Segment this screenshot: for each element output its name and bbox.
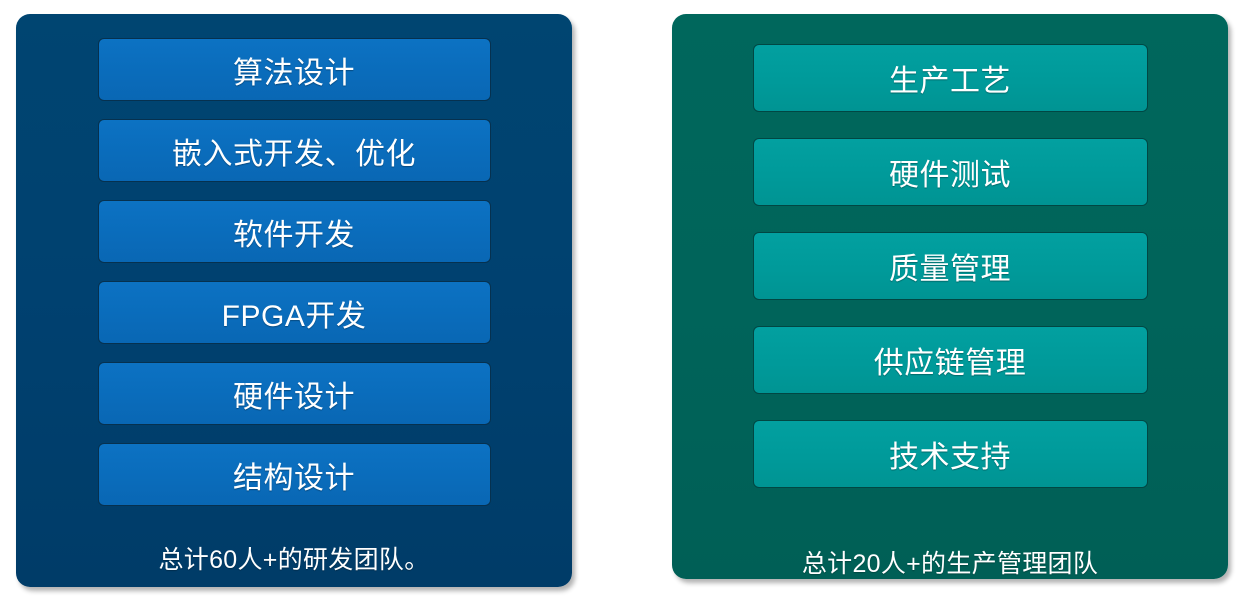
production-card-list: 生产工艺 硬件测试 质量管理 供应链管理 技术支持 — [672, 44, 1228, 488]
card-label: 技术支持 — [889, 432, 1011, 476]
card-production-5[interactable]: 技术支持 — [753, 420, 1148, 488]
card-rnd-5[interactable]: 硬件设计 — [98, 362, 491, 425]
card-production-2[interactable]: 硬件测试 — [753, 138, 1148, 206]
panel-production-management: 生产工艺 硬件测试 质量管理 供应链管理 技术支持 总计20人+的生产管理团队 — [672, 14, 1228, 579]
card-label: 供应链管理 — [874, 338, 1027, 382]
card-label: 硬件设计 — [233, 372, 355, 416]
card-label: 软件开发 — [233, 210, 355, 254]
card-label: 嵌入式开发、优化 — [172, 129, 416, 173]
card-label: 结构设计 — [233, 453, 355, 497]
card-rnd-1[interactable]: 算法设计 — [98, 38, 491, 101]
card-production-1[interactable]: 生产工艺 — [753, 44, 1148, 112]
card-production-4[interactable]: 供应链管理 — [753, 326, 1148, 394]
card-label: 硬件测试 — [889, 150, 1011, 194]
card-production-3[interactable]: 质量管理 — [753, 232, 1148, 300]
card-rnd-4[interactable]: FPGA开发 — [98, 281, 491, 344]
card-rnd-2[interactable]: 嵌入式开发、优化 — [98, 119, 491, 182]
card-label: 算法设计 — [233, 48, 355, 92]
card-rnd-6[interactable]: 结构设计 — [98, 443, 491, 506]
rnd-panel-footer-caption: 总计60人+的研发团队。 — [16, 540, 572, 576]
production-panel-footer-caption: 总计20人+的生产管理团队 — [672, 544, 1228, 580]
card-label: 质量管理 — [889, 244, 1011, 288]
team-structure-diagram: 算法设计 嵌入式开发、优化 软件开发 FPGA开发 硬件设计 结构设计 总计60… — [0, 0, 1243, 601]
rnd-card-list: 算法设计 嵌入式开发、优化 软件开发 FPGA开发 硬件设计 结构设计 — [16, 38, 572, 506]
card-label: 生产工艺 — [889, 56, 1011, 100]
card-rnd-3[interactable]: 软件开发 — [98, 200, 491, 263]
card-label: FPGA开发 — [222, 291, 367, 335]
panel-research-and-development: 算法设计 嵌入式开发、优化 软件开发 FPGA开发 硬件设计 结构设计 总计60… — [16, 14, 572, 587]
